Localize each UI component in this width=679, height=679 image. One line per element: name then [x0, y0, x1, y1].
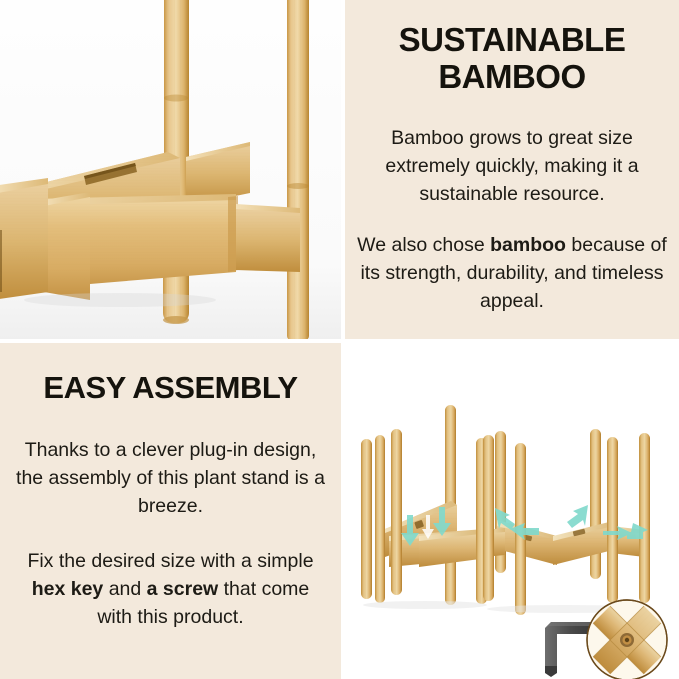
easy-assembly-heading: EASY ASSEMBLY	[29, 371, 311, 406]
bamboo-rail-right	[236, 204, 300, 272]
panel-easy-assembly: EASY ASSEMBLY Thanks to a clever plug-in…	[0, 343, 341, 679]
product-infographic: SUSTAINABLE BAMBOO Bamboo grows to great…	[0, 0, 679, 679]
heading-line-2: BAMBOO	[399, 59, 626, 96]
sustainable-paragraph-2: We also chose bamboo because of its stre…	[345, 231, 679, 316]
bamboo-rail-cross	[44, 192, 90, 300]
assembly-paragraph-1: Thanks to a clever plug-in design, the a…	[0, 436, 341, 521]
panel-sustainable-bamboo: SUSTAINABLE BAMBOO Bamboo grows to great…	[345, 0, 679, 339]
assembly-p2-bold-hexkey: hex key	[32, 578, 104, 600]
bamboo-leg-right	[287, 0, 309, 339]
assembly-p2-mid: and	[103, 578, 146, 600]
assembly-paragraph-2: Fix the desired size with a simple hex k…	[0, 547, 341, 632]
assembly-p2-pre: Fix the desired size with a simple	[27, 550, 313, 572]
paragraph-2-bold: bamboo	[490, 234, 566, 256]
heading-line-1: SUSTAINABLE	[399, 22, 626, 59]
panel-assembly-diagram	[345, 343, 679, 679]
panel-bamboo-joint-photo	[0, 0, 341, 339]
bamboo-joint-photo	[0, 0, 341, 339]
assembly-diagram-illustration	[345, 343, 679, 679]
assembly-p2-bold-screw: a screw	[147, 578, 219, 600]
sustainable-bamboo-heading: SUSTAINABLE BAMBOO	[381, 22, 644, 96]
paragraph-2-pre: We also chose	[357, 234, 490, 256]
bamboo-rail-left-stub	[0, 178, 48, 300]
sustainable-paragraph-1: Bamboo grows to great size extremely qui…	[345, 124, 679, 209]
